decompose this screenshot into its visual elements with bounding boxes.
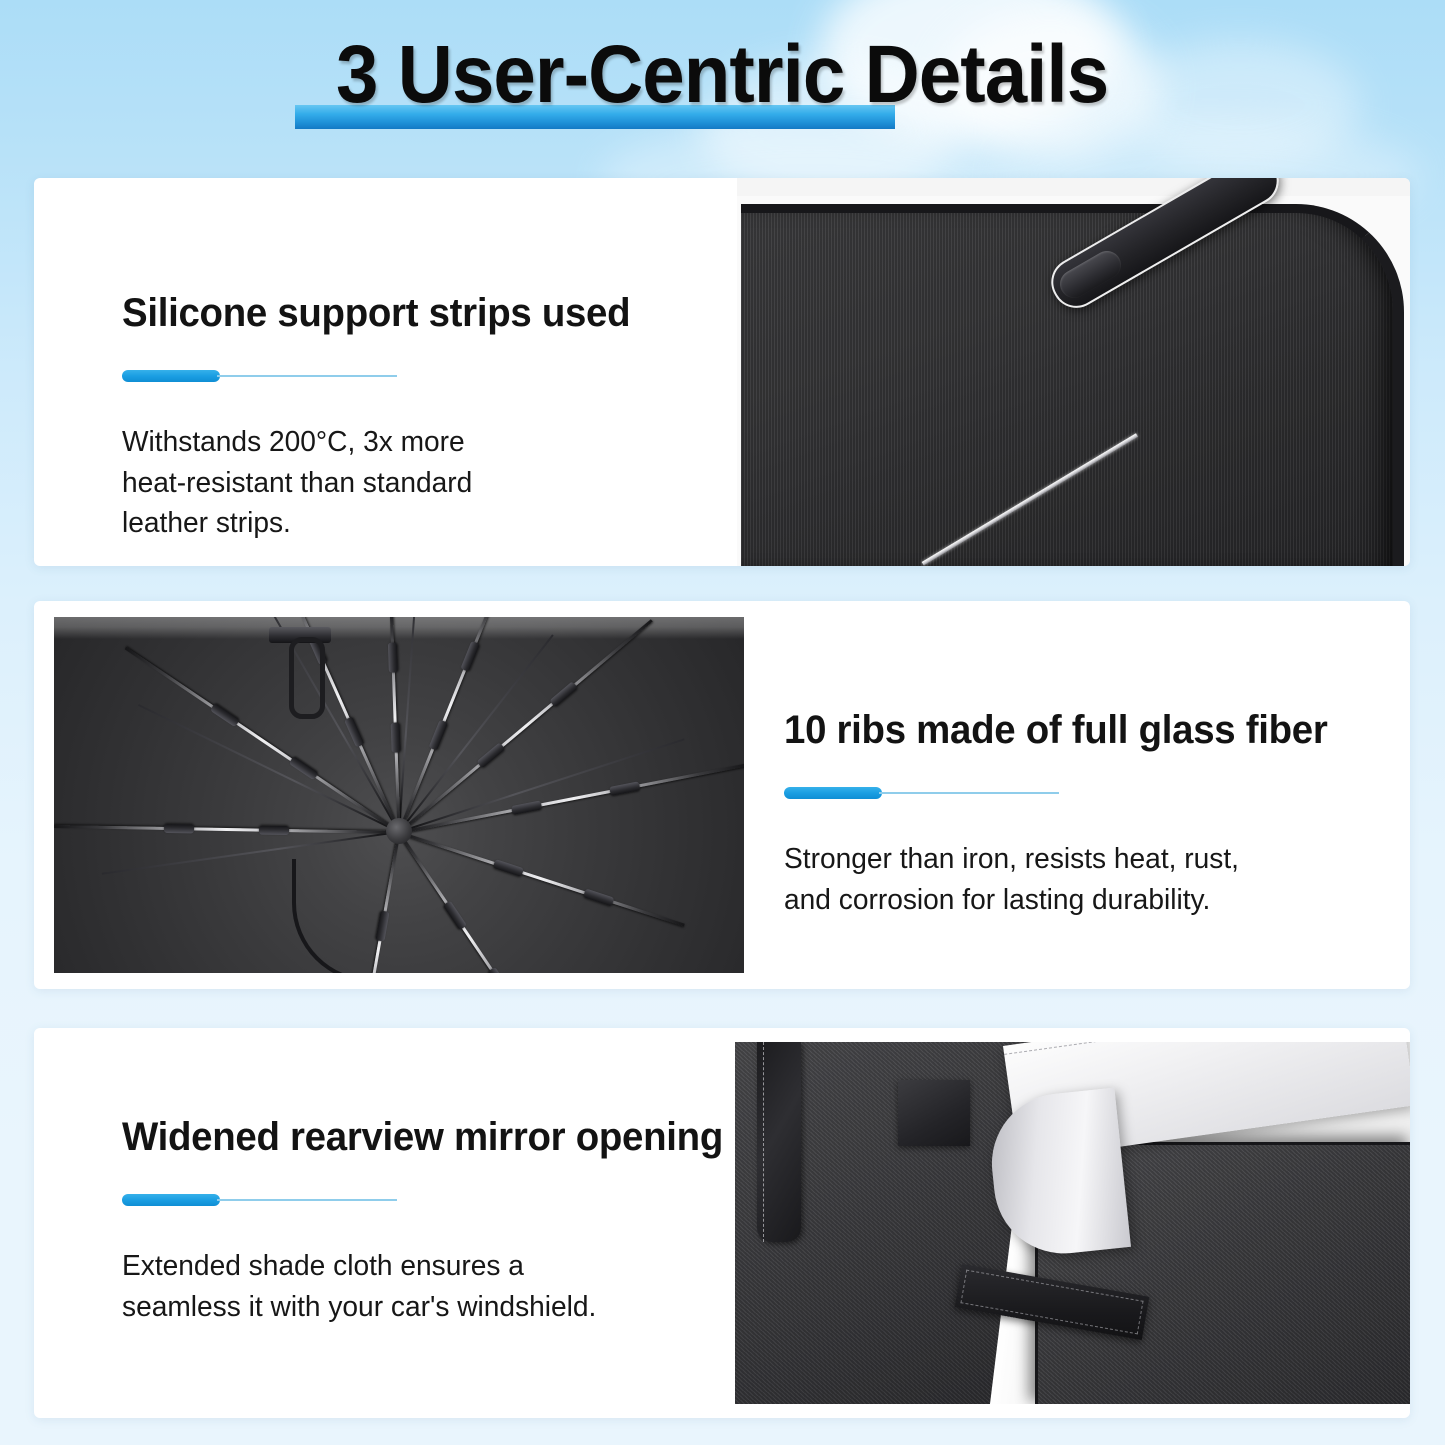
card-3-text-pane: Widened rearview mirror opening Extended… xyxy=(122,1028,772,1418)
card-1-text-pane: Silicone support strips used Withstands … xyxy=(122,178,702,566)
divider-thin-line xyxy=(217,1199,397,1201)
card-1-photo-sunshade-corner xyxy=(737,178,1410,566)
page-title-wrap: 3 User-Centric Details xyxy=(0,34,1445,116)
divider-thin-line xyxy=(217,375,397,377)
velcro-patch-shape xyxy=(898,1080,970,1146)
card-3-divider xyxy=(122,1194,772,1206)
umbrella-cord-shape xyxy=(292,859,426,973)
card-1-divider xyxy=(122,370,702,382)
card-2-divider xyxy=(784,787,1404,799)
rib-joint-shape xyxy=(388,642,398,672)
stitched-hem-shape xyxy=(757,1042,801,1242)
feature-card-ten-glass-fiber-ribs: 10 ribs made of full glass fiber Stronge… xyxy=(34,601,1410,989)
feature-card-widened-rearview-mirror-opening: Widened rearview mirror opening Extended… xyxy=(34,1028,1410,1418)
card-2-text-pane: 10 ribs made of full glass fiber Stronge… xyxy=(784,601,1404,989)
rib-joint-shape xyxy=(391,722,401,752)
card-2-body: Stronger than iron, resists heat, rust, … xyxy=(784,839,1385,920)
card-2-photo-inner xyxy=(54,617,744,973)
divider-accent-bar xyxy=(122,1194,220,1206)
card-1-headline: Silicone support strips used xyxy=(122,290,679,336)
card-2-photo-umbrella-ribs xyxy=(54,617,744,973)
card-2-headline: 10 ribs made of full glass fiber xyxy=(784,707,1379,753)
card-3-headline: Widened rearview mirror opening xyxy=(122,1114,746,1160)
feature-card-silicone-support-strips: Silicone support strips used Withstands … xyxy=(34,178,1410,566)
rib-joint-shape xyxy=(259,825,289,835)
infographic-page: 3 User-Centric Details Silicone support … xyxy=(0,0,1445,1445)
card-3-body: Extended shade cloth ensures a seamless … xyxy=(122,1246,753,1327)
rib-joint-shape xyxy=(164,823,194,833)
card-1-body: Withstands 200°C, 3x more heat-resistant… xyxy=(122,422,685,544)
card-1-photo-inner xyxy=(737,178,1410,566)
page-header: 3 User-Centric Details xyxy=(0,0,1445,175)
card-3-photo-mirror-opening xyxy=(735,1042,1410,1404)
divider-thin-line xyxy=(879,792,1059,794)
card-3-photo-inner xyxy=(735,1042,1410,1404)
divider-accent-bar xyxy=(122,370,220,382)
page-title: 3 User-Centric Details xyxy=(336,34,1108,116)
umbrella-hub-shape xyxy=(386,818,412,844)
umbrella-loop-shape xyxy=(289,637,325,719)
divider-accent-bar xyxy=(784,787,882,799)
